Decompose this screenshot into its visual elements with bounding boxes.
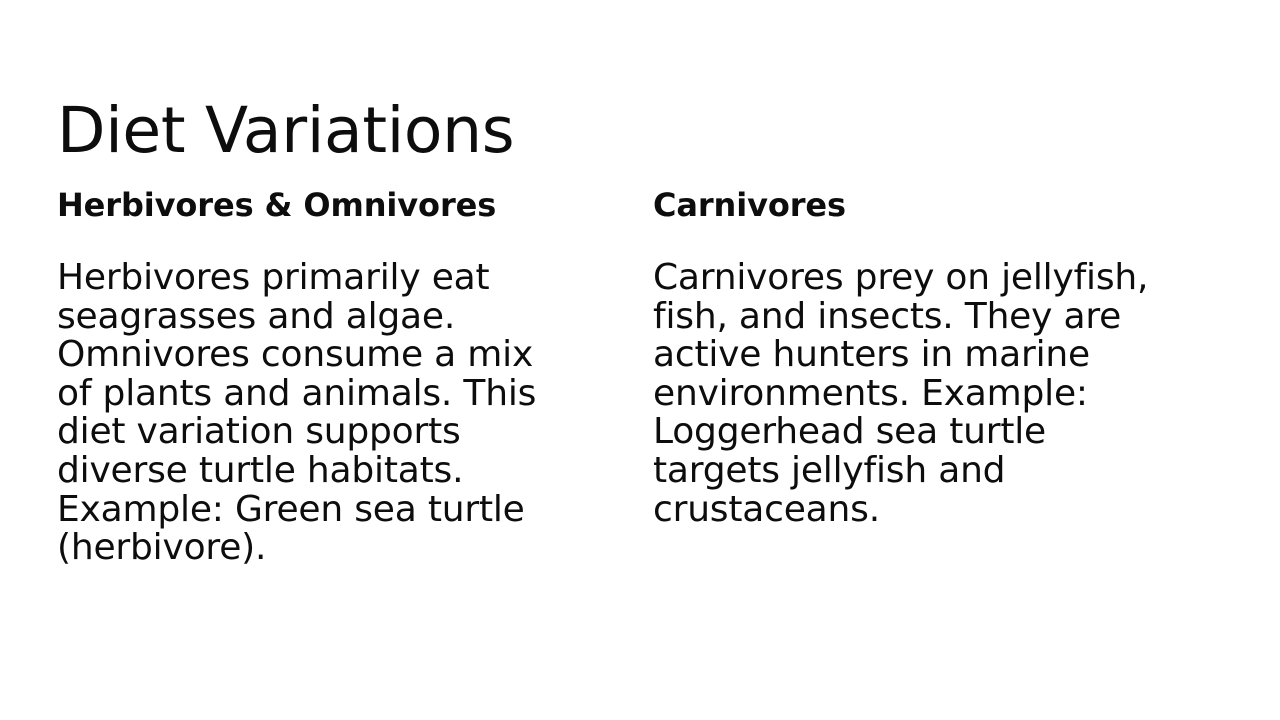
column-body-carnivores: Carnivores prey on jellyfish, fish, and … [653, 259, 1158, 529]
column-heading-herbivores-omnivores: Herbivores & Omnivores [57, 186, 562, 225]
content-columns: Herbivores & Omnivores Herbivores primar… [57, 186, 1223, 568]
column-carnivores: Carnivores Carnivores prey on jellyfish,… [653, 186, 1158, 529]
slide-canvas: Diet Variations Herbivores & Omnivores H… [0, 0, 1280, 720]
column-heading-carnivores: Carnivores [653, 186, 1158, 225]
page-title: Diet Variations [57, 94, 1217, 168]
column-body-herbivores-omnivores: Herbivores primarily eat seagrasses and … [57, 259, 562, 568]
column-herbivores-omnivores: Herbivores & Omnivores Herbivores primar… [57, 186, 562, 568]
